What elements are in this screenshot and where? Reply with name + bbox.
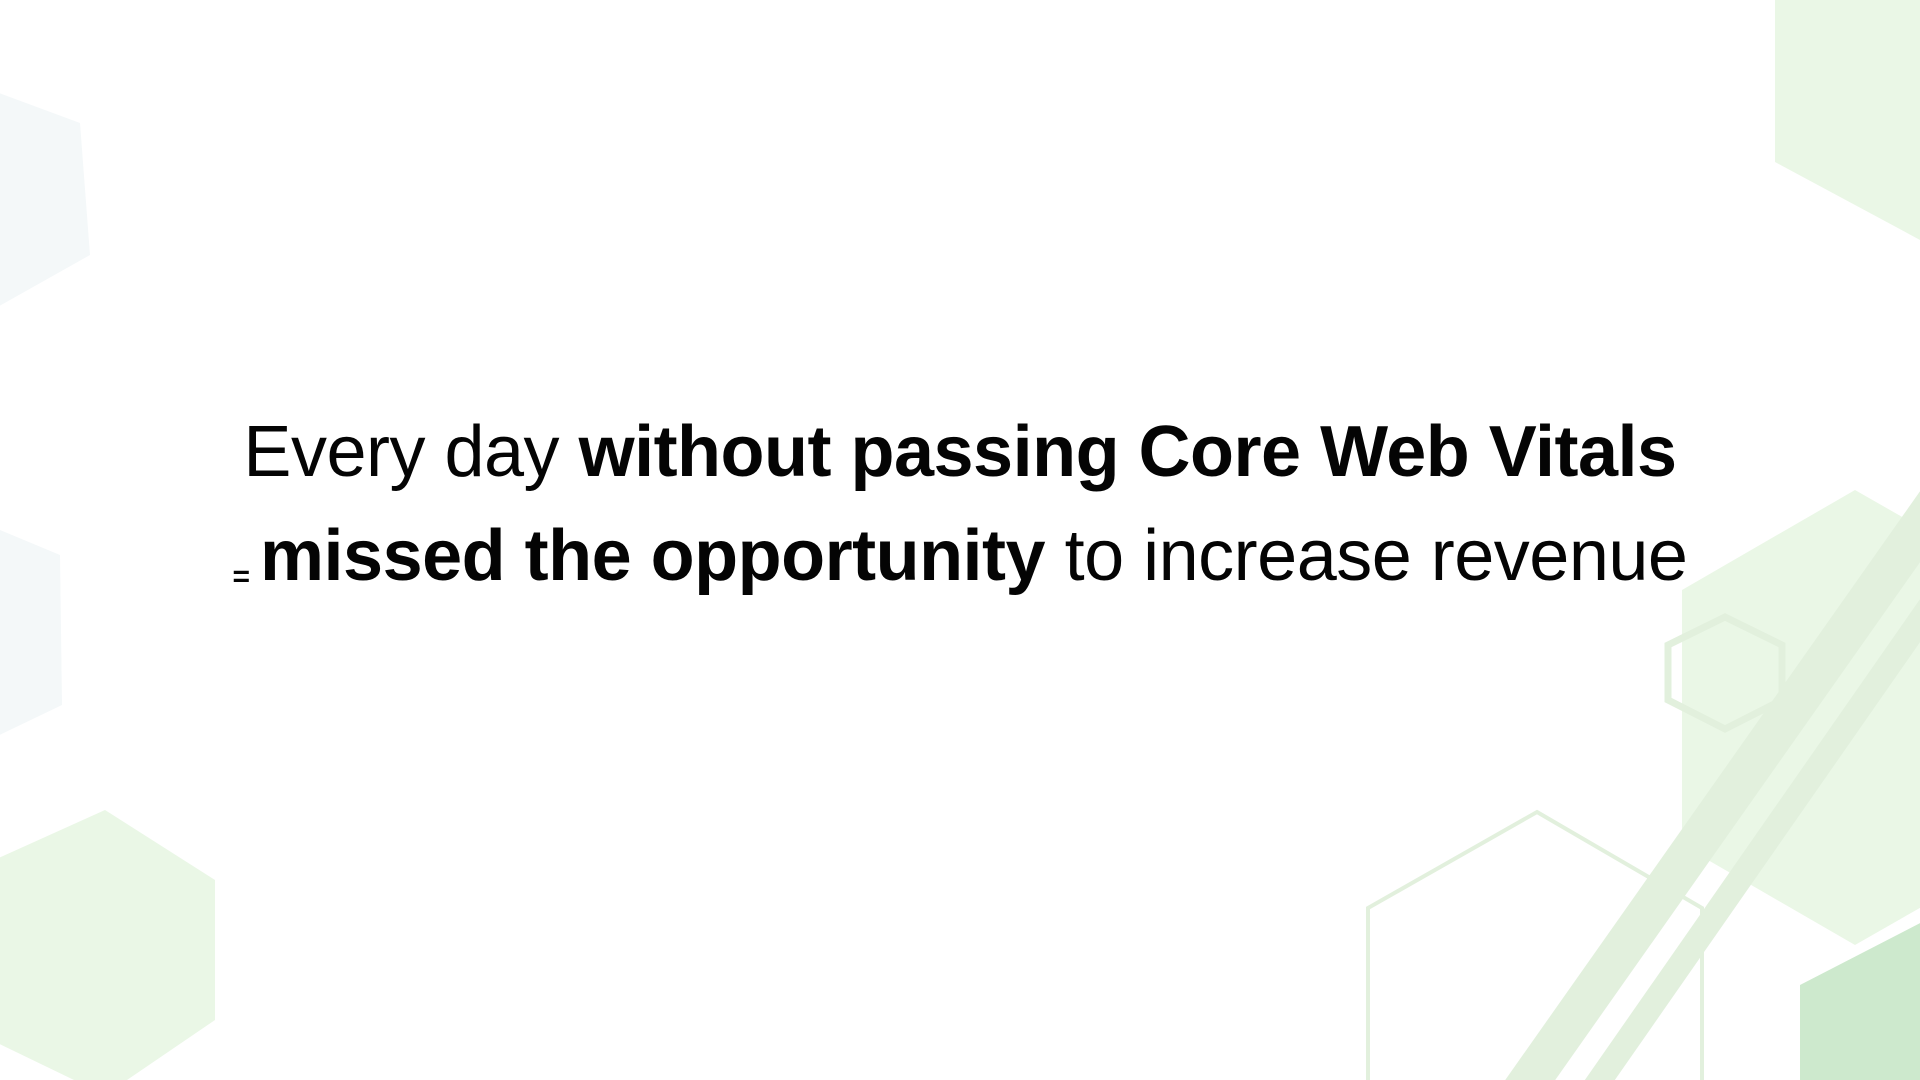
headline-line-1-normal: Every day [243, 412, 578, 492]
hexagon-bottom-right-green [1800, 900, 1920, 1080]
slide-canvas: Every day without passing Core Web Vital… [0, 0, 1920, 1080]
hexagon-small-outline [1668, 617, 1782, 729]
headline-line-2: =missed the opportunity to increase reve… [0, 504, 1920, 629]
equals-symbol: = [233, 560, 261, 593]
headline-line-2-bold: missed the opportunity [260, 516, 1045, 596]
headline-block: Every day without passing Core Web Vital… [0, 400, 1920, 629]
hexagon-bottom-left-green [0, 810, 215, 1080]
hexagon-top-right-green [1775, 0, 1920, 248]
headline-line-2-normal: to increase revenue [1045, 516, 1687, 596]
headline-line-1: Every day without passing Core Web Vital… [0, 400, 1920, 504]
hexagon-large-outline [1368, 812, 1702, 1080]
hexagon-top-left-bluegray [0, 60, 90, 345]
headline-line-1-bold: without passing Core Web Vitals [579, 412, 1677, 492]
